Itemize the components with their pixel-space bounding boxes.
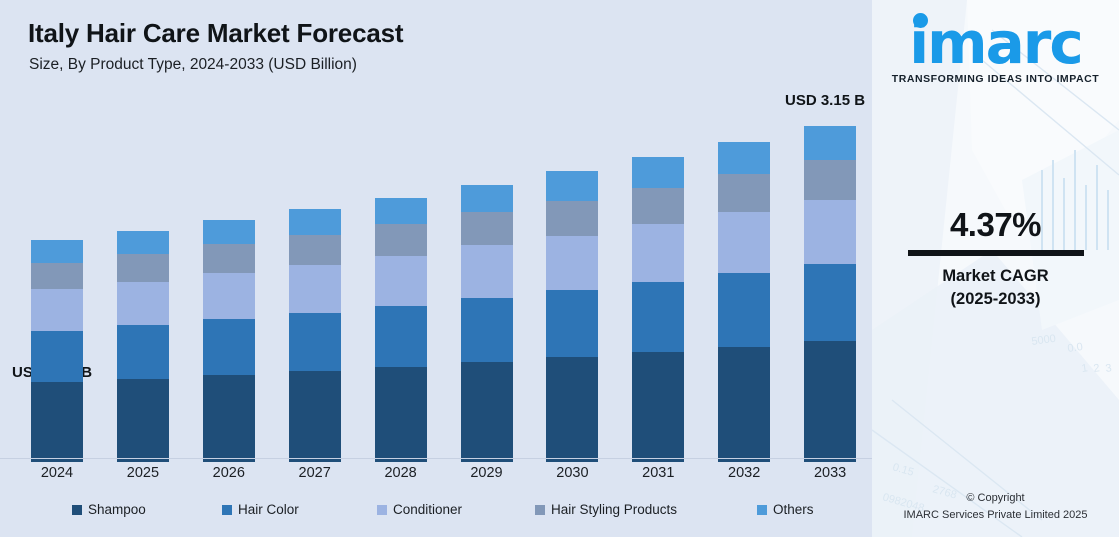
brand-panel: 0.0 1 2 3 5000 0.15 2768 0982048 imarc T… <box>872 0 1119 537</box>
x-axis-tick-labels: 2024202520262027202820292030203120322033 <box>0 462 872 488</box>
bar-segment-conditioner-2033[interactable] <box>804 200 856 264</box>
bar-segment-conditioner-2024[interactable] <box>31 289 83 331</box>
legend-swatch-icon <box>535 505 545 515</box>
bar-segment-hair-color-2032[interactable] <box>718 273 770 347</box>
legend-swatch-icon <box>377 505 387 515</box>
cagr-divider <box>908 250 1084 256</box>
x-axis-label-2028: 2028 <box>369 465 433 481</box>
bar-segment-others-2028[interactable] <box>375 198 427 225</box>
bar-segment-shampoo-2028[interactable] <box>375 367 427 462</box>
bar-segment-hair-color-2025[interactable] <box>117 325 169 378</box>
bar-segment-shampoo-2029[interactable] <box>461 362 513 462</box>
chart-legend: ShampooHair ColorConditionerHair Styling… <box>0 498 872 528</box>
stacked-bar-plot-area <box>0 96 872 462</box>
bar-group-2029[interactable] <box>461 126 513 462</box>
legend-item-conditioner[interactable]: Conditioner <box>377 502 462 517</box>
bar-segment-hair-color-2026[interactable] <box>203 319 255 374</box>
legend-label: Hair Color <box>238 502 299 517</box>
copyright-notice: © Copyright IMARC Services Private Limit… <box>872 490 1119 523</box>
bar-segment-others-2024[interactable] <box>31 240 83 262</box>
bar-segment-conditioner-2032[interactable] <box>718 212 770 273</box>
legend-swatch-icon <box>757 505 767 515</box>
bar-group-2033[interactable] <box>804 126 856 462</box>
bar-segment-hair-styling-products-2026[interactable] <box>203 244 255 273</box>
bar-segment-shampoo-2024[interactable] <box>31 382 83 462</box>
cagr-block: 4.37% Market CAGR (2025-2033) <box>872 206 1119 309</box>
bar-segment-others-2027[interactable] <box>289 209 341 235</box>
legend-label: Others <box>773 502 814 517</box>
bar-segment-conditioner-2029[interactable] <box>461 245 513 297</box>
bar-segment-others-2025[interactable] <box>117 231 169 254</box>
bar-segment-others-2031[interactable] <box>632 157 684 188</box>
x-axis-label-2024: 2024 <box>25 465 89 481</box>
bar-segment-conditioner-2031[interactable] <box>632 224 684 282</box>
bar-segment-others-2026[interactable] <box>203 220 255 245</box>
page-subtitle: Size, By Product Type, 2024-2033 (USD Bi… <box>29 56 357 74</box>
x-axis-label-2026: 2026 <box>197 465 261 481</box>
bar-segment-hair-styling-products-2030[interactable] <box>546 201 598 236</box>
copyright-line-1: © Copyright <box>872 490 1119 507</box>
x-axis-label-2029: 2029 <box>455 465 519 481</box>
bar-segment-hair-color-2027[interactable] <box>289 313 341 372</box>
bar-segment-conditioner-2025[interactable] <box>117 282 169 326</box>
bar-group-2027[interactable] <box>289 126 341 462</box>
bar-group-2032[interactable] <box>718 126 770 462</box>
bar-segment-shampoo-2031[interactable] <box>632 352 684 462</box>
bar-segment-shampoo-2026[interactable] <box>203 375 255 462</box>
blue-dot-icon <box>913 13 928 28</box>
x-axis-label-2030: 2030 <box>540 465 604 481</box>
bar-segment-hair-styling-products-2027[interactable] <box>289 235 341 265</box>
bar-segment-conditioner-2026[interactable] <box>203 273 255 319</box>
cagr-value: 4.37% <box>872 206 1119 244</box>
bar-group-2024[interactable] <box>31 126 83 462</box>
bar-segment-hair-color-2031[interactable] <box>632 282 684 352</box>
bar-segment-others-2033[interactable] <box>804 126 856 160</box>
bar-segment-hair-color-2024[interactable] <box>31 331 83 382</box>
bar-group-2025[interactable] <box>117 126 169 462</box>
bar-segment-conditioner-2027[interactable] <box>289 265 341 313</box>
bar-segment-others-2029[interactable] <box>461 185 513 213</box>
bar-segment-shampoo-2025[interactable] <box>117 379 169 462</box>
x-axis-line <box>0 458 872 459</box>
copyright-line-2: IMARC Services Private Limited 2025 <box>872 507 1119 524</box>
bar-segment-hair-styling-products-2024[interactable] <box>31 263 83 290</box>
imarc-logo: imarc TRANSFORMING IDEAS INTO IMPACT <box>872 16 1119 85</box>
bar-group-2030[interactable] <box>546 126 598 462</box>
bar-segment-hair-color-2029[interactable] <box>461 298 513 362</box>
bar-segment-others-2032[interactable] <box>718 142 770 174</box>
legend-swatch-icon <box>222 505 232 515</box>
bar-segment-others-2030[interactable] <box>546 171 598 201</box>
cagr-caption: Market CAGR <box>872 264 1119 290</box>
x-axis-label-2031: 2031 <box>626 465 690 481</box>
legend-label: Hair Styling Products <box>551 502 677 517</box>
legend-item-shampoo[interactable]: Shampoo <box>72 502 146 517</box>
legend-item-hair-color[interactable]: Hair Color <box>222 502 299 517</box>
cagr-range: (2025-2033) <box>872 290 1119 309</box>
x-axis-label-2032: 2032 <box>712 465 776 481</box>
legend-label: Shampoo <box>88 502 146 517</box>
bar-group-2028[interactable] <box>375 126 427 462</box>
x-axis-label-2027: 2027 <box>283 465 347 481</box>
x-axis-label-2025: 2025 <box>111 465 175 481</box>
bar-segment-hair-color-2030[interactable] <box>546 290 598 357</box>
bar-segment-shampoo-2033[interactable] <box>804 341 856 462</box>
x-axis-label-2033: 2033 <box>798 465 862 481</box>
chart-screenshot: Italy Hair Care Market Forecast Size, By… <box>0 0 1119 537</box>
chart-panel: Italy Hair Care Market Forecast Size, By… <box>0 0 872 537</box>
bar-segment-shampoo-2027[interactable] <box>289 371 341 462</box>
bar-segment-hair-styling-products-2033[interactable] <box>804 160 856 199</box>
bar-segment-hair-styling-products-2032[interactable] <box>718 174 770 212</box>
legend-label: Conditioner <box>393 502 462 517</box>
bar-segment-conditioner-2028[interactable] <box>375 256 427 306</box>
bar-segment-shampoo-2030[interactable] <box>546 357 598 462</box>
page-title: Italy Hair Care Market Forecast <box>28 18 403 49</box>
svg-text:0.0: 0.0 <box>1067 341 1084 355</box>
bar-segment-shampoo-2032[interactable] <box>718 347 770 462</box>
bar-segment-hair-color-2033[interactable] <box>804 264 856 342</box>
bar-segment-hair-styling-products-2031[interactable] <box>632 188 684 224</box>
bar-group-2026[interactable] <box>203 126 255 462</box>
bar-segment-hair-styling-products-2025[interactable] <box>117 254 169 282</box>
imarc-logo-text: imarc <box>909 16 1081 71</box>
legend-swatch-icon <box>72 505 82 515</box>
bar-group-2031[interactable] <box>632 126 684 462</box>
legend-item-hair-styling-products[interactable]: Hair Styling Products <box>535 502 677 517</box>
legend-item-others[interactable]: Others <box>757 502 814 517</box>
bar-segment-hair-styling-products-2029[interactable] <box>461 212 513 245</box>
bar-segment-conditioner-2030[interactable] <box>546 236 598 290</box>
bar-segment-hair-styling-products-2028[interactable] <box>375 224 427 256</box>
bar-segment-hair-color-2028[interactable] <box>375 306 427 367</box>
